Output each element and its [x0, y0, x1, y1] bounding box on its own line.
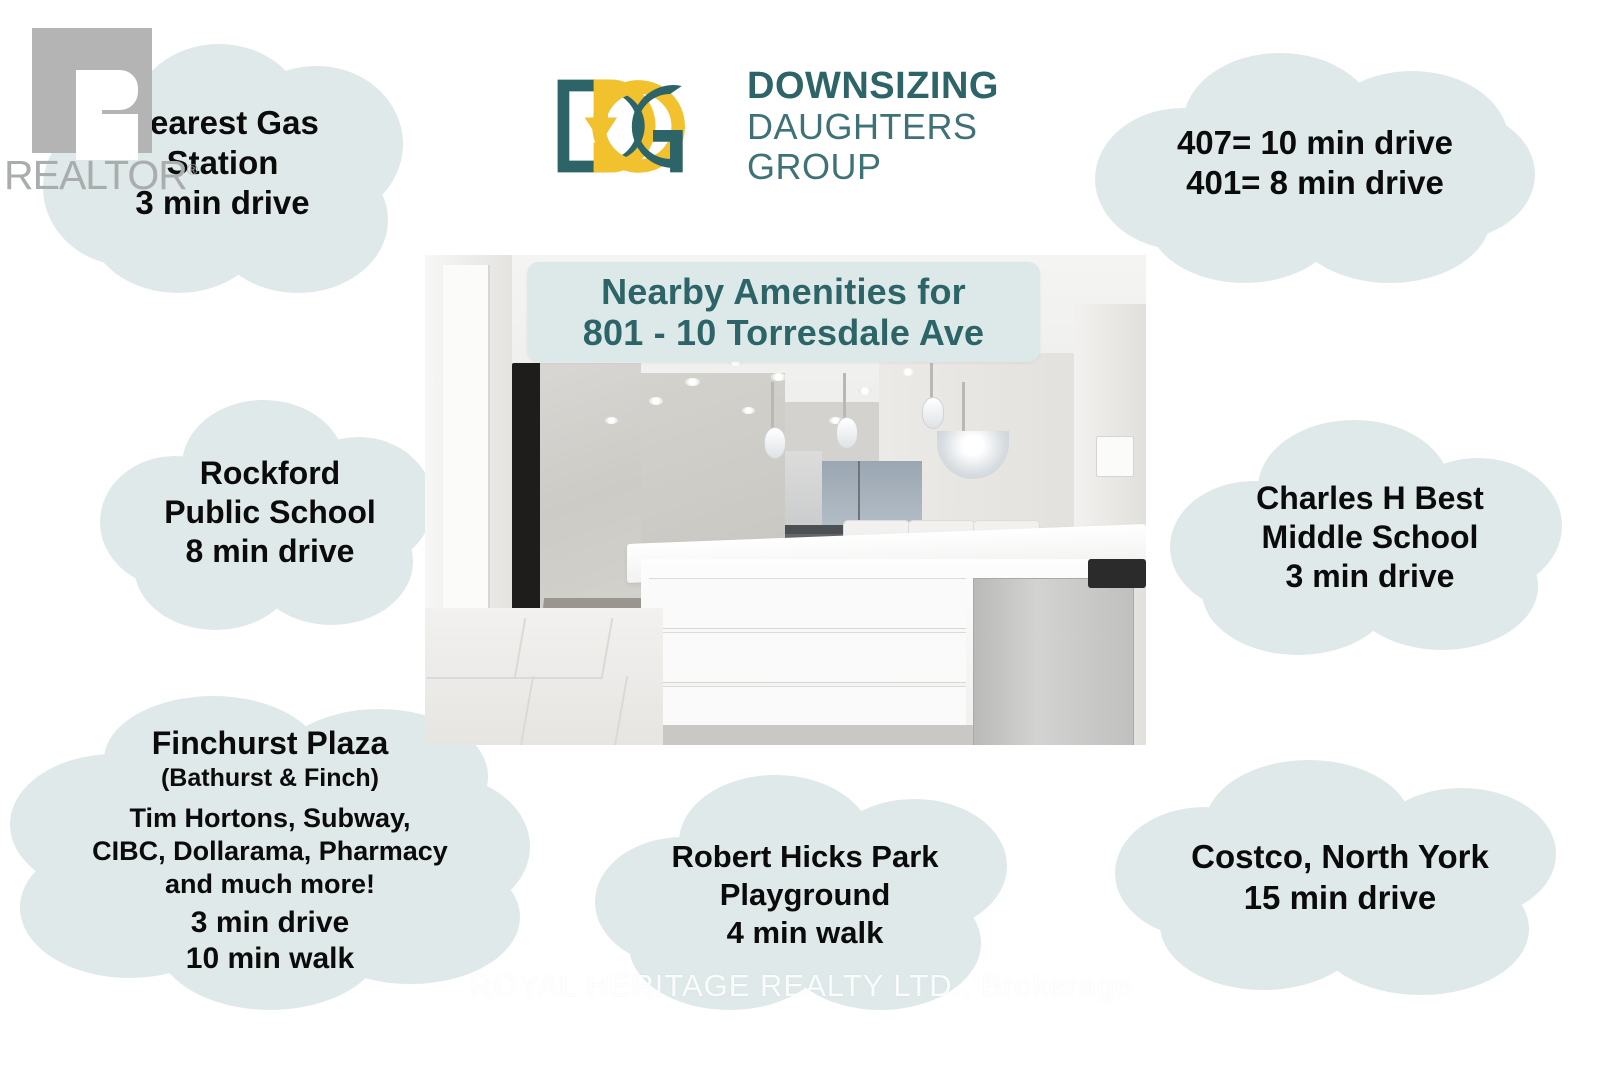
cloud-line: 4 min walk: [727, 914, 884, 952]
cloud-line: Charles H Best: [1256, 479, 1484, 518]
photo-cabinet-drawer: [649, 578, 966, 629]
title-banner: Nearby Amenities for 801 - 10 Torresdale…: [527, 262, 1040, 362]
amenity-cloud-rockford-school: Rockford Public School 8 min drive: [100, 395, 440, 630]
photo-pot-light: [649, 397, 663, 405]
cloud-title: Finchurst Plaza: [152, 724, 389, 763]
cloud-line: Station: [167, 143, 279, 183]
cloud-line: 407= 10 min drive: [1177, 123, 1453, 163]
poster-canvas: Nearby Amenities for 801 - 10 Torresdale…: [0, 0, 1600, 1068]
brand-logo: DOWNSIZING DAUGHTERS GROUP: [545, 58, 1065, 193]
photo-toe-kick: [641, 725, 973, 745]
cloud-line: Robert Hicks Park: [671, 838, 938, 876]
photo-chandelier-stem: [962, 382, 965, 431]
cloud-line: 10 min walk: [186, 941, 354, 978]
photo-floor-tile: [513, 618, 612, 679]
cloud-text-block: 407= 10 min drive 401= 8 min drive: [1095, 48, 1535, 278]
cloud-line: 401= 8 min drive: [1186, 163, 1444, 203]
photo-pendant-light: [764, 427, 786, 459]
cloud-line: Middle School: [1262, 518, 1479, 557]
cloud-line: Public School: [164, 493, 376, 532]
amenity-cloud-highways: 407= 10 min drive 401= 8 min drive: [1095, 48, 1535, 278]
amenity-cloud-gas-station: Nearest Gas Station 3 min drive: [35, 28, 410, 298]
photo-pendant-light: [836, 417, 858, 449]
brand-wordmark: DOWNSIZING DAUGHTERS GROUP: [747, 67, 999, 185]
cloud-line: 3 min drive: [135, 183, 309, 223]
cloud-line: CIBC, Dollarama, Pharmacy: [92, 835, 448, 868]
photo-floor-tile: [426, 676, 534, 745]
brand-line-3: GROUP: [747, 149, 999, 185]
photo-pot-light: [605, 417, 618, 424]
ddg-monogram-icon: [545, 65, 725, 187]
cloud-line: Costco, North York: [1191, 837, 1489, 877]
cloud-text-block: Charles H Best Middle School 3 min drive: [1170, 420, 1570, 655]
cloud-line: Playground: [720, 876, 891, 914]
photo-light-switch: [1096, 436, 1134, 477]
photo-cabinet-drawer: [649, 632, 966, 683]
amenity-cloud-charles-h-best: Charles H Best Middle School 3 min drive: [1170, 420, 1570, 655]
brand-line-2: DAUGHTERS: [747, 109, 999, 145]
cloud-text-block: Costco, North York 15 min drive: [1115, 760, 1565, 995]
cloud-line: 3 min drive: [1286, 557, 1455, 596]
cloud-line: 15 min drive: [1244, 878, 1437, 918]
photo-floor-tile: [520, 676, 628, 745]
brand-line-1: DOWNSIZING: [747, 67, 999, 105]
photo-pot-light: [771, 373, 786, 381]
cloud-subtitle: (Bathurst & Finch): [161, 763, 379, 794]
photo-pot-light: [901, 368, 915, 376]
cloud-line: 3 min drive: [191, 905, 349, 942]
photo-pendant-cord: [930, 363, 933, 402]
photo-floor-tile: [427, 618, 526, 679]
amenity-cloud-robert-hicks-park: Robert Hicks Park Playground 4 min walk: [595, 775, 1015, 1015]
cloud-line: Tim Hortons, Subway,: [129, 802, 410, 835]
banner-line-2: 801 - 10 Torresdale Ave: [583, 312, 984, 353]
photo-pot-light: [742, 407, 755, 414]
photo-dishwasher: [973, 578, 1134, 745]
photo-pendant-cord: [843, 373, 846, 422]
photo-pot-light: [685, 378, 700, 386]
banner-line-1: Nearby Amenities for: [601, 271, 966, 312]
cloud-line: and much more!: [165, 868, 375, 901]
cloud-line: 8 min drive: [186, 532, 355, 571]
cloud-line: Nearest Gas: [126, 103, 319, 143]
photo-cooktop: [1088, 559, 1146, 588]
photo-pendant-cord: [771, 382, 774, 431]
amenity-cloud-costco: Costco, North York 15 min drive: [1115, 760, 1565, 995]
cloud-text-block: Nearest Gas Station 3 min drive: [35, 28, 410, 298]
cloud-text-block: Robert Hicks Park Playground 4 min walk: [595, 775, 1015, 1015]
cloud-text-block: Rockford Public School 8 min drive: [100, 395, 440, 630]
cloud-line: Rockford: [200, 454, 340, 493]
